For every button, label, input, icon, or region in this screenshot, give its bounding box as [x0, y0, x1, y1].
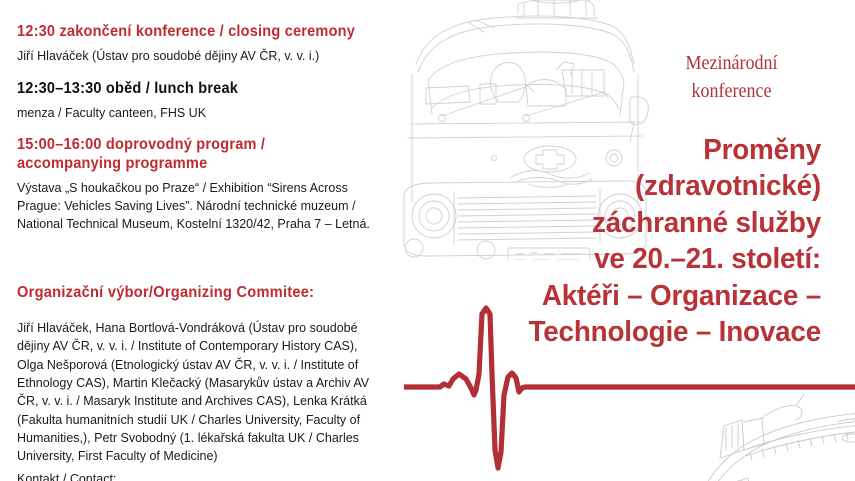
conference-title: Proměny (zdravotnické) záchranné služby … — [437, 132, 821, 350]
conference-kicker: Mezinárodní konference — [646, 50, 817, 105]
title-line: Proměny — [437, 132, 821, 168]
kicker-line-2: konference — [646, 78, 817, 106]
cut-off-bottom-line-text: Kontakt / Contact: — [17, 470, 399, 481]
closing-ceremony-heading: 12:30 zakončení konference / closing cer… — [17, 23, 374, 42]
conference-poster: 12:30 zakončení konference / closing cer… — [0, 0, 855, 481]
ambulance-roof-lightbar-sketch — [700, 392, 855, 481]
title-line: (zdravotnické) — [437, 168, 821, 204]
accompanying-programme-heading: 15:00–16:00 doprovodný program / accompa… — [17, 136, 371, 174]
programme-item-lunch-break: 12:30–13:30 oběd / lunch break menza / F… — [17, 80, 397, 122]
programme-item-accompanying-programme: 15:00–16:00 doprovodný program / accompa… — [17, 136, 394, 234]
programme-column: 12:30 zakončení konference / closing cer… — [17, 0, 399, 481]
title-line: Technologie – Inovace — [437, 314, 821, 350]
programme-item-closing-ceremony: 12:30 zakončení konference / closing cer… — [17, 23, 397, 65]
lunch-break-heading: 12:30–13:30 oběd / lunch break — [17, 80, 374, 99]
title-line: záchranné služby — [437, 205, 821, 241]
spacer — [17, 302, 397, 319]
title-line: Aktéři – Organizace – — [437, 278, 821, 314]
kicker-line-1: Mezinárodní — [646, 50, 817, 78]
organizing-committee-section: Organizační výbor/Organizing Commitee: J… — [17, 284, 397, 466]
title-line: ve 20.–21. století: — [437, 241, 821, 277]
cut-off-bottom-line: Kontakt / Contact: — [17, 470, 417, 481]
closing-ceremony-body: Jiří Hlaváček (Ústav pro soudobé dějiny … — [17, 47, 380, 65]
organizing-committee-members: Jiří Hlaváček, Hana Bortlová-Vondráková … — [17, 319, 380, 466]
organizing-committee-heading: Organizační výbor/Organizing Commitee: — [17, 284, 374, 302]
lunch-break-body: menza / Faculty canteen, FHS UK — [17, 104, 380, 122]
accompanying-programme-body: Výstava „S houkačkou po Praze“ / Exhibit… — [17, 179, 377, 234]
